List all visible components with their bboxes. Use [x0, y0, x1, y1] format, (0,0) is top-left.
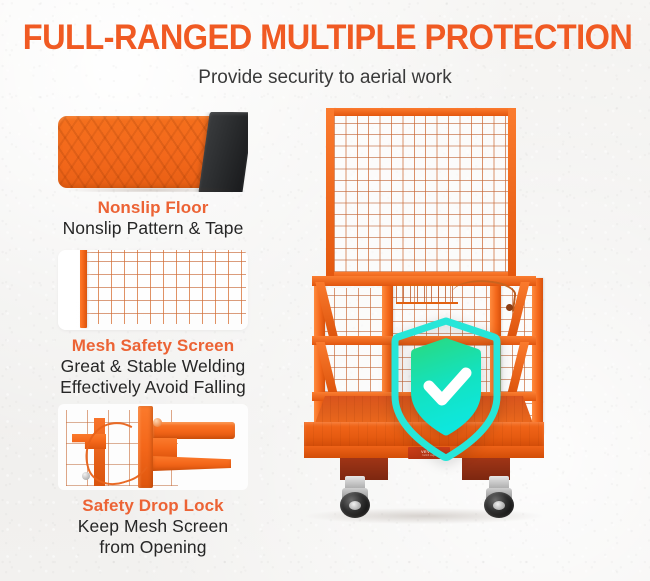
feature-title: Mesh Safety Screen — [28, 335, 278, 356]
nonslip-floor-image — [58, 112, 248, 192]
feature-nonslip-floor: Nonslip Floor Nonslip Pattern & Tape — [28, 112, 278, 239]
lock-upper-arm — [153, 422, 235, 439]
lock-pin — [153, 418, 162, 427]
feature-description-line1: Nonslip Pattern & Tape — [28, 218, 278, 239]
page-subtitle: Provide security to aerial work — [0, 66, 650, 90]
ground-shadow — [306, 508, 542, 524]
feature-description-line2: from Opening — [28, 537, 278, 558]
frame-post — [80, 250, 87, 328]
diamond-plate-panel — [58, 116, 218, 188]
lock-jaw — [153, 438, 177, 458]
feature-title: Nonslip Floor — [28, 197, 278, 218]
marketing-image: FULL-RANGED MULTIPLE PROTECTION Provide … — [0, 0, 650, 581]
strap-end-fitting — [506, 304, 513, 311]
drop-lock-image — [58, 404, 248, 490]
feature-safety-drop-lock: Safety Drop Lock Keep Mesh Screen from O… — [28, 404, 278, 558]
wire-mesh-grid — [85, 250, 246, 324]
lock-lower-arm — [153, 456, 231, 471]
lock-bolt — [82, 472, 90, 480]
gate-latch — [396, 284, 458, 304]
rear-panel-frame — [326, 108, 516, 280]
feature-mesh-safety-screen: Mesh Safety Screen Great & Stable Weldin… — [28, 250, 278, 398]
feature-description-line1: Great & Stable Welding — [28, 356, 278, 377]
drop-shadow — [64, 186, 239, 192]
page-title: FULL-RANGED MULTIPLE PROTECTION — [23, 18, 628, 58]
rear-mesh-panel — [326, 108, 516, 280]
mesh-screen-image — [58, 250, 248, 330]
feature-description-line1: Keep Mesh Screen — [28, 516, 278, 537]
shield-check-icon — [390, 316, 502, 464]
feature-description-line2: Effectively Avoid Falling — [28, 377, 278, 398]
feature-title: Safety Drop Lock — [28, 495, 278, 516]
